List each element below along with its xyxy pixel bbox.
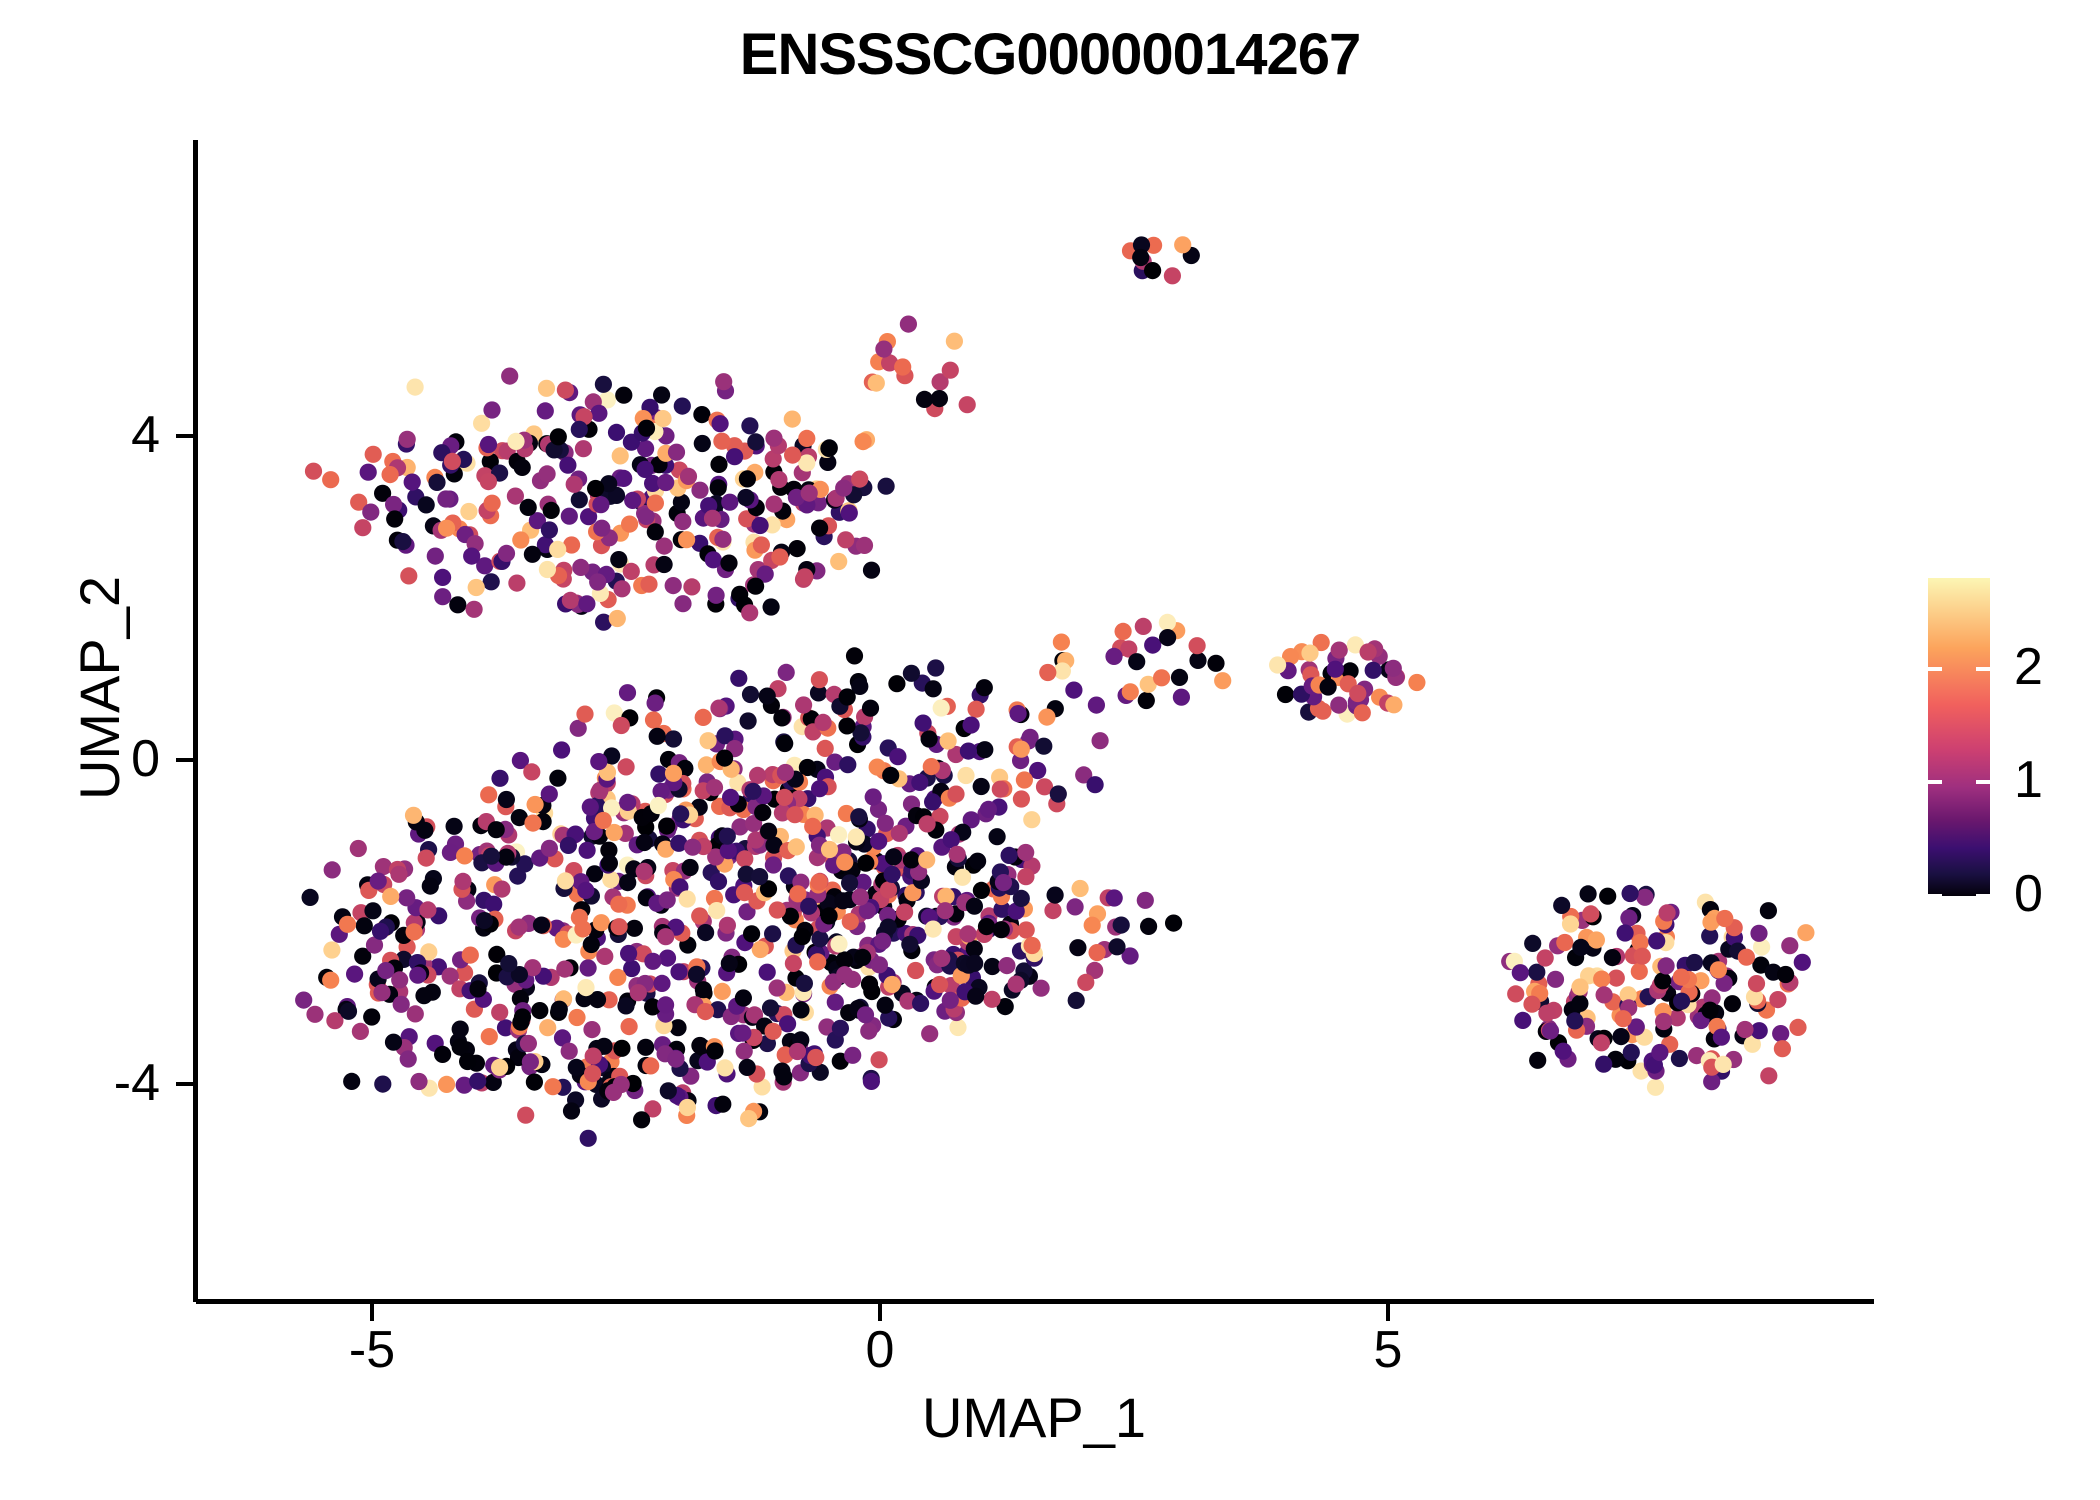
- scatter-point: [889, 748, 906, 765]
- scatter-point: [1092, 732, 1109, 749]
- scatter-point: [556, 961, 573, 978]
- scatter-point: [785, 955, 802, 972]
- scatter-point: [1514, 1012, 1531, 1029]
- scatter-point: [609, 969, 626, 986]
- scatter-point: [658, 818, 675, 835]
- scatter-point: [410, 1073, 427, 1090]
- scatter-point: [1701, 1002, 1718, 1019]
- scatter-point: [933, 950, 950, 967]
- scatter-point: [834, 892, 851, 909]
- scatter-point: [697, 924, 714, 941]
- scatter-point: [522, 1053, 539, 1070]
- scatter-point: [976, 679, 993, 696]
- scatter-point: [871, 956, 888, 973]
- colorbar-tick-mark: [1928, 894, 1942, 898]
- scatter-point: [1617, 924, 1634, 941]
- scatter-point: [680, 468, 697, 485]
- scatter-point: [611, 918, 628, 935]
- scatter-point: [568, 1059, 585, 1076]
- scatter-point: [1772, 1025, 1789, 1042]
- scatter-point: [1604, 949, 1621, 966]
- scatter-point: [394, 533, 411, 550]
- scatter-point: [1360, 643, 1377, 660]
- scatter-point: [665, 765, 682, 782]
- scatter-point: [878, 478, 895, 495]
- scatter-point: [539, 465, 556, 482]
- scatter-point: [560, 837, 577, 854]
- scatter-point: [978, 918, 995, 935]
- scatter-point: [1588, 931, 1605, 948]
- scatter-point: [437, 490, 454, 507]
- scatter-point: [656, 538, 673, 555]
- scatter-point: [372, 923, 389, 940]
- scatter-point: [789, 1043, 806, 1060]
- scatter-point: [498, 791, 515, 808]
- scatter-point: [1580, 885, 1597, 902]
- scatter-point: [811, 780, 828, 797]
- scatter-point: [1385, 696, 1402, 713]
- scatter-point: [566, 476, 583, 493]
- scatter-point: [610, 896, 627, 913]
- scatter-point: [769, 979, 786, 996]
- scatter-point: [1556, 934, 1573, 951]
- scatter-point: [800, 898, 817, 915]
- scatter-point: [1538, 1005, 1555, 1022]
- scatter-point: [501, 368, 518, 385]
- scatter-point: [559, 457, 576, 474]
- scatter-point: [870, 833, 887, 850]
- scatter-point: [989, 828, 1006, 845]
- scatter-point: [916, 391, 933, 408]
- scatter-point: [1008, 976, 1025, 993]
- scatter-point: [710, 873, 727, 890]
- scatter-point: [1017, 844, 1034, 861]
- scatter-point: [674, 398, 691, 415]
- scatter-point: [891, 825, 908, 842]
- scatter-point: [942, 992, 959, 1009]
- scatter-point: [578, 595, 595, 612]
- scatter-point: [1781, 937, 1798, 954]
- scatter-point: [868, 375, 885, 392]
- scatter-point: [1010, 705, 1027, 722]
- scatter-point: [553, 741, 570, 758]
- x-tick-label: 5: [1318, 1324, 1458, 1376]
- scatter-point: [1033, 980, 1050, 997]
- scatter-point: [949, 846, 966, 863]
- scatter-point: [370, 873, 387, 890]
- scatter-point: [1736, 1021, 1753, 1038]
- scatter-point: [1748, 975, 1765, 992]
- scatter-point: [966, 955, 983, 972]
- scatter-point: [969, 853, 986, 870]
- scatter-point: [821, 841, 838, 858]
- scatter-point: [865, 788, 882, 805]
- scatter-point: [608, 424, 625, 441]
- scatter-point: [691, 482, 708, 499]
- scatter-point: [1164, 267, 1181, 284]
- scatter-point: [346, 966, 363, 983]
- scatter-point: [668, 444, 685, 461]
- scatter-point: [637, 1039, 654, 1056]
- scatter-point: [830, 935, 847, 952]
- scatter-point: [302, 889, 319, 906]
- scatter-point: [940, 732, 957, 749]
- scatter-point: [1582, 905, 1599, 922]
- scatter-point: [739, 1059, 756, 1076]
- scatter-point: [850, 808, 867, 825]
- scatter-point: [524, 546, 541, 563]
- scatter-point: [585, 1048, 602, 1065]
- scatter-point: [896, 904, 913, 921]
- scatter-points-layer: [196, 140, 1872, 1301]
- scatter-point: [1523, 996, 1540, 1013]
- scatter-point: [863, 562, 880, 579]
- scatter-point: [747, 433, 764, 450]
- scatter-point: [418, 850, 435, 867]
- scatter-point: [510, 919, 527, 936]
- scatter-point: [706, 1042, 723, 1059]
- scatter-point: [911, 774, 928, 791]
- scatter-point: [613, 1040, 630, 1057]
- scatter-point: [888, 675, 905, 692]
- scatter-point: [710, 700, 727, 717]
- scatter-point: [1562, 915, 1579, 932]
- scatter-point: [653, 783, 670, 800]
- scatter-point: [527, 796, 544, 813]
- scatter-point: [1106, 889, 1123, 906]
- scatter-point: [400, 567, 417, 584]
- scatter-point: [1354, 704, 1371, 721]
- scatter-point: [851, 471, 868, 488]
- scatter-point: [713, 433, 730, 450]
- scatter-point: [854, 949, 871, 966]
- scatter-point: [638, 420, 655, 437]
- scatter-point: [619, 874, 636, 891]
- scatter-point: [1017, 868, 1034, 885]
- scatter-point: [770, 471, 787, 488]
- scatter-point: [541, 786, 558, 803]
- scatter-point: [1089, 944, 1106, 961]
- scatter-point: [1613, 1028, 1630, 1045]
- scatter-point: [719, 917, 736, 934]
- scatter-point: [415, 987, 432, 1004]
- scatter-point: [734, 1025, 751, 1042]
- scatter-point: [649, 728, 666, 745]
- scatter-point: [339, 916, 356, 933]
- scatter-point: [1716, 910, 1733, 927]
- scatter-point: [841, 504, 858, 521]
- scatter-point: [1173, 689, 1190, 706]
- scatter-point: [789, 540, 806, 557]
- scatter-point: [365, 446, 382, 463]
- scatter-point: [633, 1111, 650, 1128]
- scatter-point: [483, 401, 500, 418]
- scatter-point: [839, 756, 856, 773]
- scatter-point: [613, 580, 630, 597]
- scatter-point: [623, 563, 640, 580]
- scatter-point: [446, 818, 463, 835]
- scatter-point: [697, 1003, 714, 1020]
- scatter-point: [1001, 847, 1018, 864]
- scatter-point: [1035, 738, 1052, 755]
- scatter-point: [1069, 939, 1086, 956]
- scatter-point: [752, 517, 769, 534]
- scatter-point: [577, 882, 594, 899]
- scatter-point: [468, 579, 485, 596]
- umap-feature-plot: ENSSSCG00000014267 -505 40-4 UMAP_1 UMAP…: [0, 0, 2100, 1500]
- scatter-point: [1789, 1019, 1806, 1036]
- scatter-point: [1159, 629, 1176, 646]
- scatter-point: [871, 1051, 888, 1068]
- scatter-point: [393, 996, 410, 1013]
- scatter-point: [601, 855, 618, 872]
- scatter-point: [1174, 236, 1191, 253]
- scatter-point: [1385, 660, 1402, 677]
- scatter-point: [460, 503, 477, 520]
- scatter-point: [784, 447, 801, 464]
- scatter-point: [885, 848, 902, 865]
- scatter-point: [550, 428, 567, 445]
- scatter-point: [593, 914, 610, 931]
- scatter-point: [760, 823, 777, 840]
- scatter-point: [811, 520, 828, 537]
- scatter-point: [1631, 963, 1648, 980]
- scatter-point: [1750, 925, 1767, 942]
- scatter-point: [400, 1050, 417, 1067]
- scatter-point: [915, 715, 932, 732]
- scatter-point: [693, 406, 710, 423]
- scatter-point: [1537, 949, 1554, 966]
- scatter-point: [615, 470, 632, 487]
- scatter-point: [861, 976, 878, 993]
- scatter-point: [483, 848, 500, 865]
- scatter-point: [804, 818, 821, 835]
- scatter-point: [721, 494, 738, 511]
- scatter-point: [695, 981, 712, 998]
- y-tick-mark: [176, 758, 193, 762]
- scatter-point: [1542, 1022, 1559, 1039]
- scatter-point: [796, 975, 813, 992]
- scatter-point: [743, 925, 760, 942]
- scatter-point: [362, 504, 379, 521]
- scatter-point: [754, 804, 771, 821]
- scatter-point: [595, 812, 612, 829]
- scatter-point: [967, 988, 984, 1005]
- scatter-point: [1135, 618, 1152, 635]
- scatter-point: [452, 1021, 469, 1038]
- scatter-point: [407, 379, 424, 396]
- scatter-point: [838, 717, 855, 734]
- scatter-point: [571, 421, 588, 438]
- scatter-point: [674, 513, 691, 530]
- scatter-point: [966, 898, 983, 915]
- scatter-point: [894, 358, 911, 375]
- scatter-point: [1138, 692, 1155, 709]
- scatter-point: [1620, 909, 1637, 926]
- scatter-point: [1189, 652, 1206, 669]
- scatter-point: [427, 548, 444, 565]
- scatter-point: [514, 459, 531, 476]
- colorbar-tick-label: 0: [2014, 868, 2094, 920]
- scatter-point: [848, 828, 865, 845]
- scatter-point: [1207, 655, 1224, 672]
- scatter-point: [538, 380, 555, 397]
- scatter-point: [815, 714, 832, 731]
- scatter-point: [322, 972, 339, 989]
- scatter-point: [356, 917, 373, 934]
- scatter-point: [579, 842, 596, 859]
- scatter-point: [683, 578, 700, 595]
- scatter-point: [973, 778, 990, 795]
- scatter-point: [753, 536, 770, 553]
- scatter-point: [650, 766, 667, 783]
- scatter-point: [576, 706, 593, 723]
- scatter-point: [1654, 972, 1671, 989]
- scatter-point: [765, 856, 782, 873]
- scatter-point: [360, 464, 377, 481]
- scatter-point: [1072, 880, 1089, 897]
- scatter-point: [577, 979, 594, 996]
- scatter-point: [710, 479, 727, 496]
- x-tick-mark: [370, 1304, 374, 1321]
- scatter-point: [541, 521, 558, 538]
- scatter-point: [1365, 662, 1382, 679]
- scatter-point: [657, 474, 674, 491]
- scatter-point: [983, 991, 1000, 1008]
- scatter-point: [589, 573, 606, 590]
- scatter-point: [574, 920, 591, 937]
- scatter-point: [434, 1046, 451, 1063]
- scatter-point: [739, 470, 756, 487]
- scatter-point: [715, 373, 732, 390]
- scatter-point: [491, 1004, 508, 1021]
- scatter-point: [374, 1076, 391, 1093]
- scatter-point: [1553, 897, 1570, 914]
- scatter-point: [672, 805, 689, 822]
- scatter-point: [1128, 653, 1145, 670]
- scatter-point: [343, 1073, 360, 1090]
- scatter-point: [485, 896, 502, 913]
- scatter-point: [1122, 683, 1139, 700]
- scatter-point: [1593, 971, 1610, 988]
- scatter-point: [1671, 1050, 1688, 1067]
- scatter-point: [811, 671, 828, 688]
- colorbar-tick-mark: [1928, 780, 1942, 784]
- scatter-point: [571, 491, 588, 508]
- scatter-point: [877, 815, 894, 832]
- scatter-point: [957, 767, 974, 784]
- scatter-point: [1067, 898, 1084, 915]
- scatter-point: [807, 1049, 824, 1066]
- scatter-point: [1710, 961, 1727, 978]
- scatter-point: [836, 854, 853, 871]
- scatter-point: [710, 456, 727, 473]
- scatter-point: [1655, 1013, 1672, 1030]
- scatter-point: [590, 405, 607, 422]
- scatter-point: [324, 861, 341, 878]
- scatter-point: [484, 495, 501, 512]
- scatter-point: [704, 510, 721, 527]
- scatter-point: [514, 1008, 531, 1025]
- scatter-point: [1571, 995, 1588, 1012]
- scatter-point: [976, 741, 993, 758]
- scatter-point: [794, 928, 811, 945]
- scatter-point: [1634, 948, 1651, 965]
- scatter-point: [931, 390, 948, 407]
- scatter-point: [619, 684, 636, 701]
- scatter-point: [539, 561, 556, 578]
- scatter-point: [386, 510, 403, 527]
- scatter-point: [1349, 685, 1366, 702]
- scatter-point: [613, 717, 630, 734]
- scatter-point: [295, 992, 312, 1009]
- scatter-point: [647, 495, 664, 512]
- scatter-point: [561, 508, 578, 525]
- scatter-point: [968, 701, 985, 718]
- scatter-point: [1512, 964, 1529, 981]
- scatter-point: [927, 659, 944, 676]
- colorbar-gradient: [1928, 578, 1990, 896]
- scatter-point: [778, 664, 795, 681]
- scatter-point: [354, 519, 371, 536]
- scatter-point: [862, 700, 879, 717]
- scatter-point: [884, 866, 901, 883]
- scatter-point: [1524, 935, 1541, 952]
- scatter-point: [620, 945, 637, 962]
- scatter-point: [830, 826, 847, 843]
- scatter-point: [1555, 1043, 1572, 1060]
- scatter-point: [1113, 917, 1130, 934]
- scatter-point: [1087, 776, 1104, 793]
- scatter-point: [874, 933, 891, 950]
- scatter-point: [1023, 811, 1040, 828]
- scatter-point: [801, 485, 818, 502]
- scatter-point: [1088, 697, 1105, 714]
- scatter-point: [959, 396, 976, 413]
- scatter-point: [691, 907, 708, 924]
- scatter-point: [769, 901, 786, 918]
- scatter-point: [595, 376, 612, 393]
- scatter-point: [855, 433, 872, 450]
- scatter-point: [827, 994, 844, 1011]
- scatter-point: [735, 989, 752, 1006]
- scatter-point: [776, 789, 793, 806]
- scatter-plot-panel: [196, 140, 1872, 1301]
- scatter-point: [418, 496, 435, 513]
- scatter-point: [456, 847, 473, 864]
- scatter-point: [763, 598, 780, 615]
- scatter-point: [907, 962, 924, 979]
- scatter-point: [694, 435, 711, 452]
- scatter-point: [438, 1076, 455, 1093]
- scatter-point: [1077, 974, 1094, 991]
- scatter-point: [844, 1047, 861, 1064]
- scatter-point: [1108, 938, 1125, 955]
- scatter-point: [933, 699, 950, 716]
- scatter-point: [1301, 645, 1318, 662]
- scatter-point: [526, 1074, 543, 1091]
- scatter-point: [659, 891, 676, 908]
- scatter-point: [740, 712, 757, 729]
- scatter-point: [399, 431, 416, 448]
- scatter-point: [493, 881, 510, 898]
- page-title: ENSSSCG00000014267: [0, 26, 2100, 84]
- scatter-point: [508, 575, 525, 592]
- scatter-point: [919, 815, 936, 832]
- scatter-point: [900, 316, 917, 333]
- scatter-point: [1571, 978, 1588, 995]
- scatter-point: [1738, 949, 1755, 966]
